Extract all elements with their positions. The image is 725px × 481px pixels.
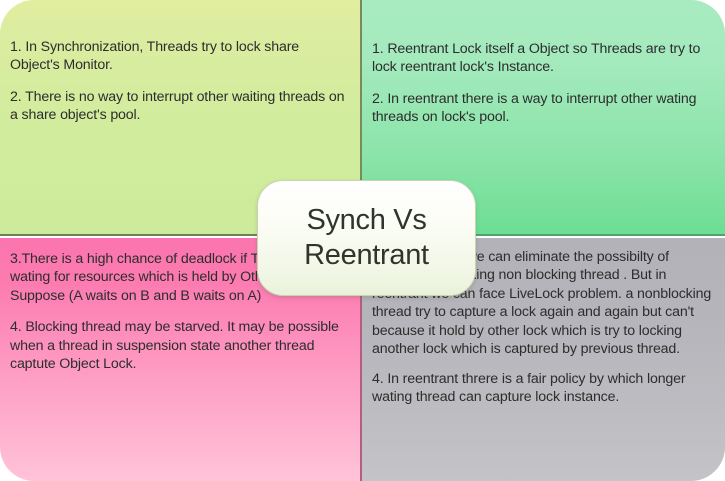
list-item: 1. In Synchronization, Threads try to lo… xyxy=(10,38,350,75)
list-item: 4. In reentrant threre is a fair policy … xyxy=(372,370,715,407)
list-item: 2. There is no way to interrupt other wa… xyxy=(10,88,350,125)
list-item: 4. Blocking thread may be starved. It ma… xyxy=(10,318,350,373)
page-title: Synch Vs Reentrant xyxy=(304,203,429,274)
list-item: 1. Reentrant Lock itself a Object so Thr… xyxy=(372,40,715,77)
list-item: 2. In reentrant there is a way to interr… xyxy=(372,90,715,127)
comparison-matrix: 1. In Synchronization, Threads try to lo… xyxy=(0,0,725,481)
center-title-box: Synch Vs Reentrant xyxy=(257,180,476,296)
